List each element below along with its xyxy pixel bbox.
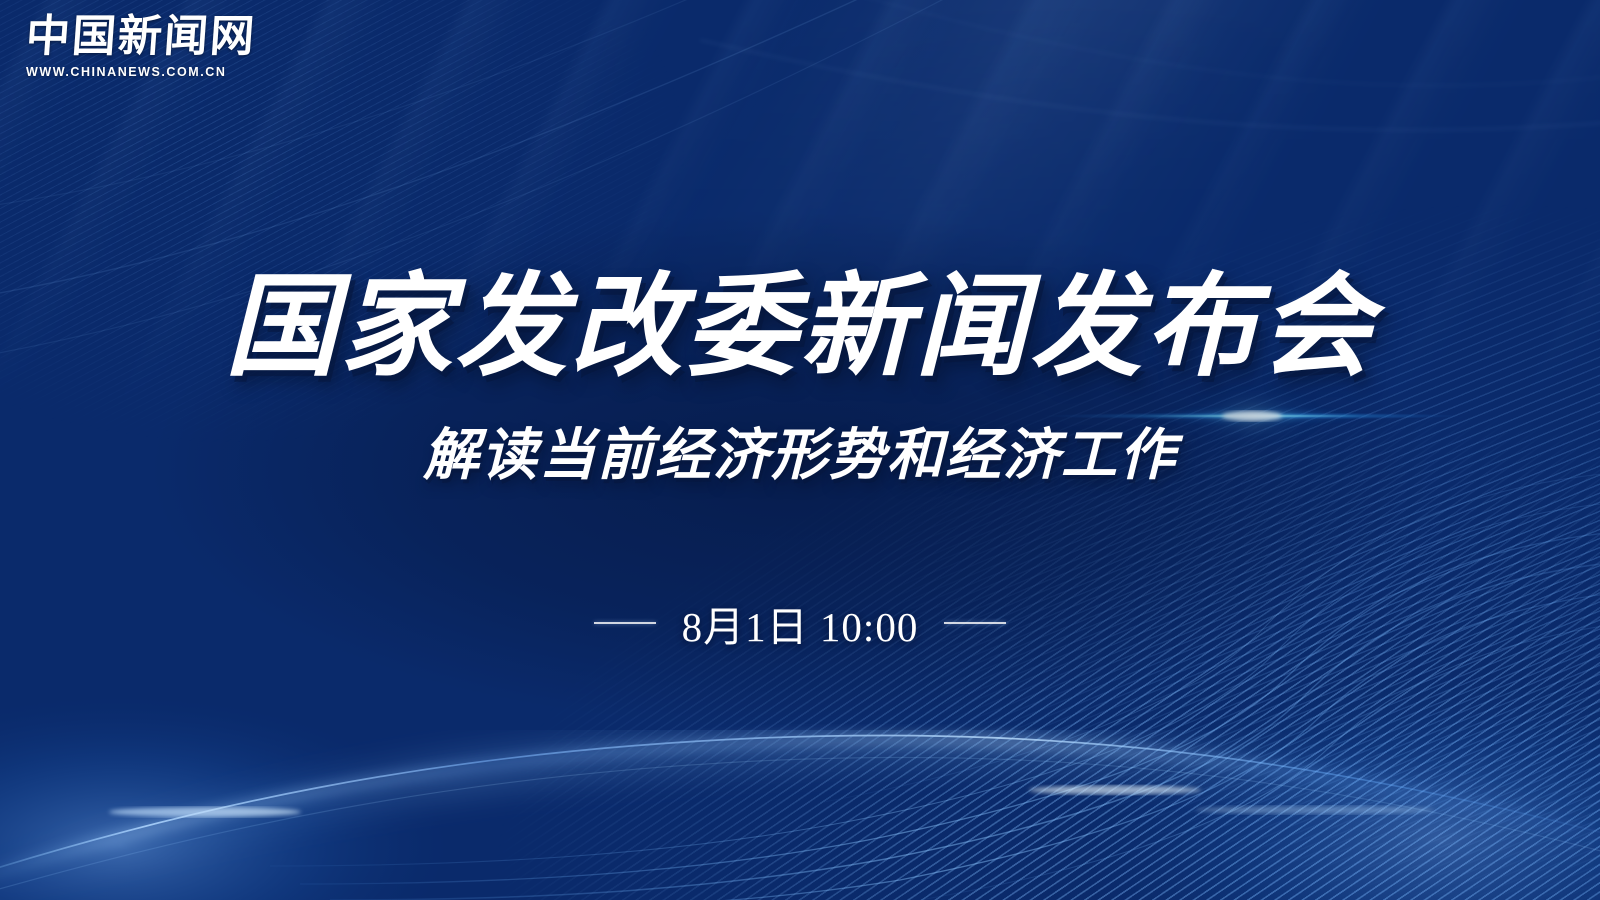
bottom-left-glow — [0, 696, 450, 900]
page-title: 国家发改委新闻发布会 — [0, 262, 1600, 392]
bottom-right-glow — [1080, 670, 1600, 900]
headline-block: 国家发改委新闻发布会 解读当前经济形势和经济工作 8月1日 10:00 — [0, 262, 1600, 653]
rule-left — [594, 622, 656, 624]
logo-wordmark: 中国新闻网 — [24, 14, 247, 60]
datetime-row: 8月1日 10:00 — [0, 593, 1600, 653]
page-subtitle: 解读当前经济形势和经济工作 — [0, 410, 1600, 491]
chinanews-logo[interactable]: 中国新闻网 WWW.CHINANEWS.COM.CN — [26, 14, 246, 79]
top-right-arc-group — [700, 0, 1600, 130]
logo-url: WWW.CHINANEWS.COM.CN — [26, 65, 246, 79]
event-datetime: 8月1日 10:00 — [682, 593, 919, 653]
title-card-canvas: 中国新闻网 WWW.CHINANEWS.COM.CN 国家发改委新闻发布会 解读… — [0, 0, 1600, 900]
rule-right — [944, 622, 1006, 624]
